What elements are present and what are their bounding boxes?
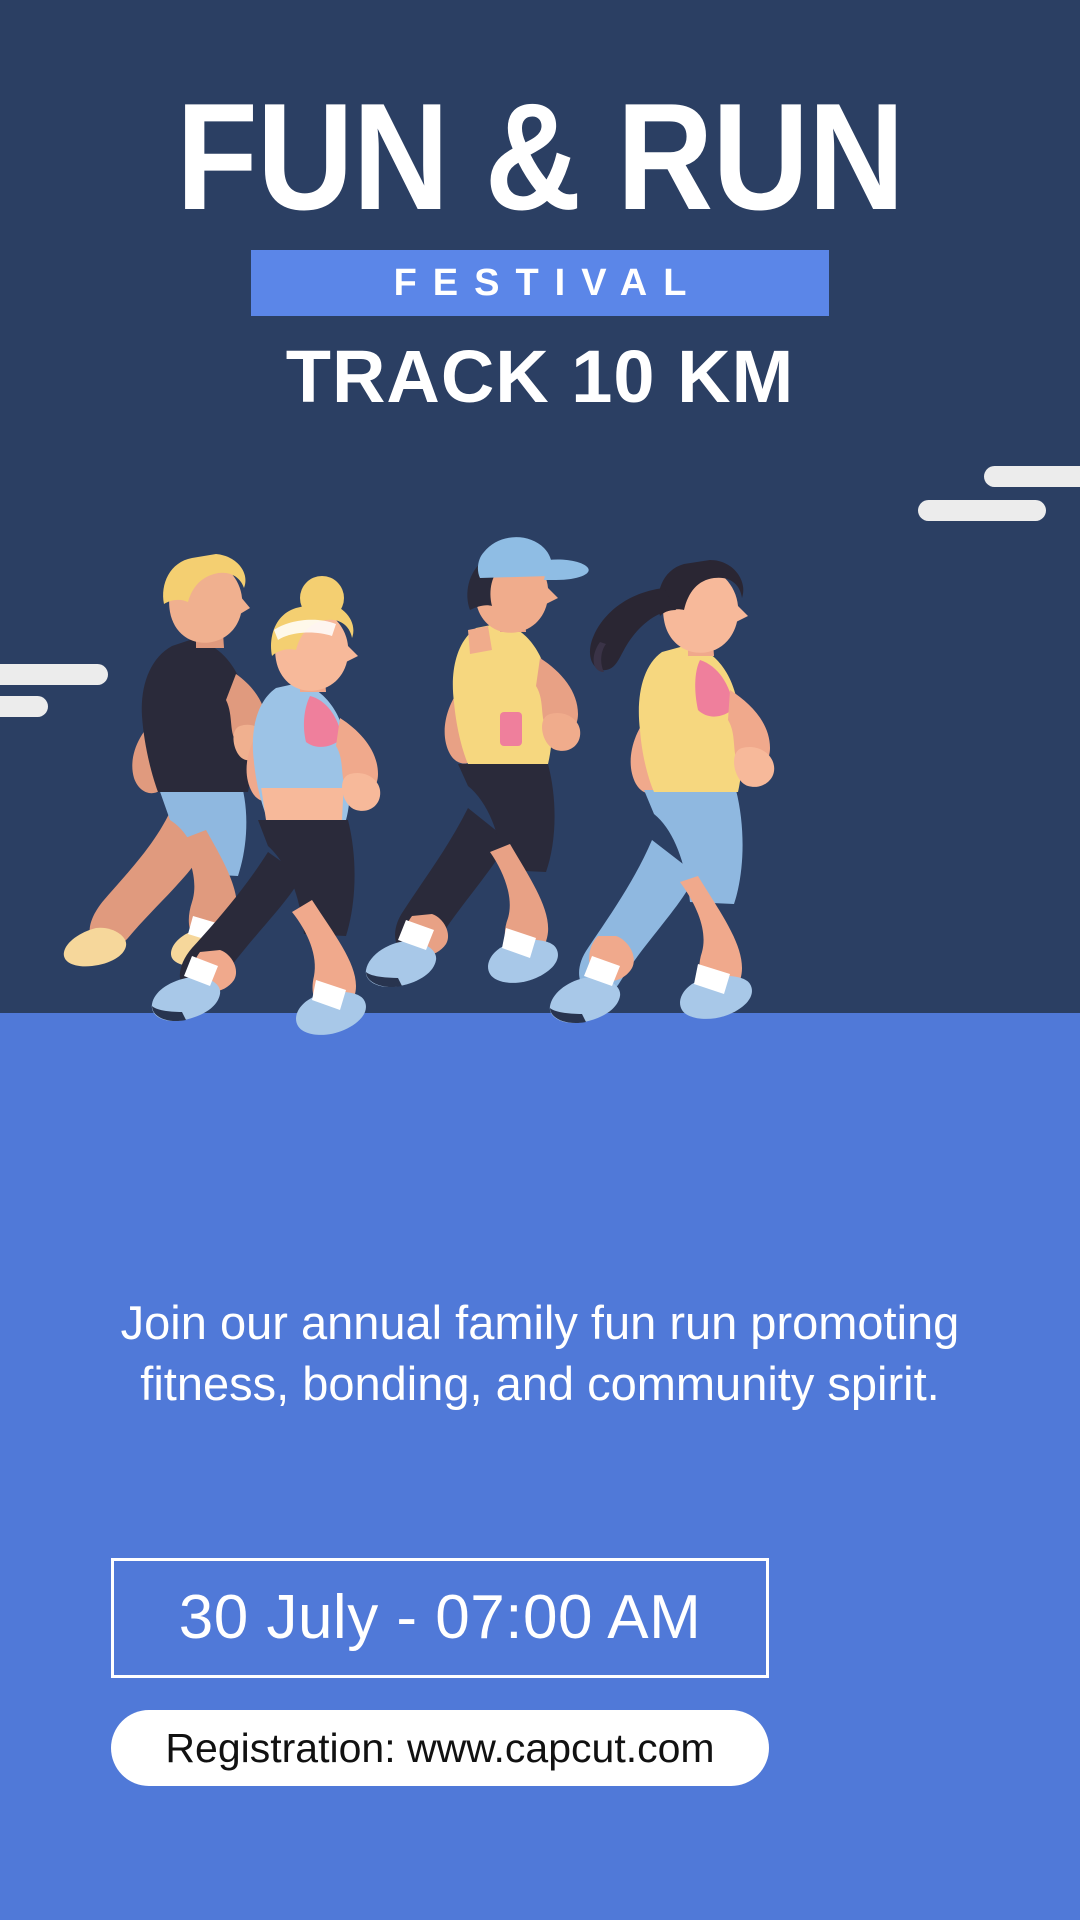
- headline-block: FUN & RUN FESTIVAL TRACK 10 KM: [0, 0, 1080, 419]
- festival-badge: FESTIVAL: [251, 250, 829, 316]
- runners-svg: [0, 500, 1080, 1060]
- registration-button[interactable]: Registration: www.capcut.com: [111, 1710, 769, 1786]
- registration-label: Registration: www.capcut.com: [165, 1728, 714, 1769]
- runner-4: [550, 560, 774, 1023]
- description-text: Join our annual family fun run promoting…: [90, 1292, 990, 1414]
- subtitle-track-distance: TRACK 10 KM: [0, 336, 1080, 419]
- poster-canvas: FUN & RUN FESTIVAL TRACK 10 KM: [0, 0, 1080, 1920]
- speed-line-right-1-icon: [984, 466, 1080, 487]
- date-time-label: 30 July - 07:00 AM: [179, 1587, 702, 1649]
- runners-illustration: [0, 500, 1080, 1060]
- runner-3: [366, 537, 589, 987]
- date-time-box: 30 July - 07:00 AM: [111, 1558, 769, 1678]
- festival-badge-label: FESTIVAL: [378, 264, 703, 302]
- page-title: FUN & RUN: [65, 88, 1015, 228]
